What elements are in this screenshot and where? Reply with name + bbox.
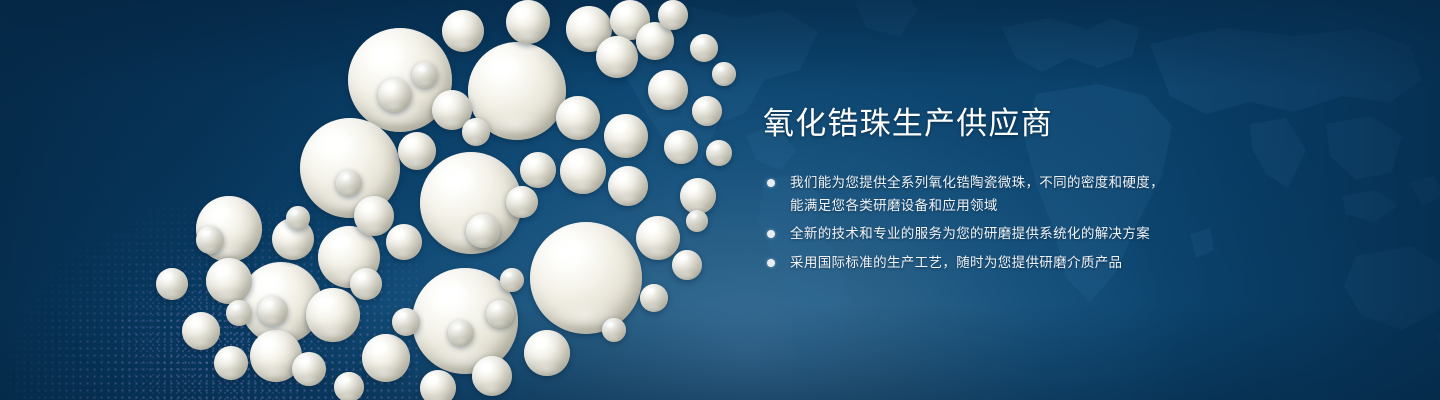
bullet-dot-icon <box>767 179 775 187</box>
bullet-dot-icon <box>767 259 775 267</box>
list-item-line1: 我们能为您提供全系列氧化锆陶瓷微珠，不同的密度和硬度， <box>790 175 1164 191</box>
list-item: 我们能为您提供全系列氧化锆陶瓷微珠，不同的密度和硬度， 能满足您各类研磨设备和应… <box>763 172 1363 217</box>
hero-banner: 氧化锆珠生产供应商 我们能为您提供全系列氧化锆陶瓷微珠，不同的密度和硬度， 能满… <box>0 0 1440 400</box>
list-item-line1: 全新的技术和专业的服务为您的研磨提供系统化的解决方案 <box>790 226 1150 242</box>
page-title: 氧化锆珠生产供应商 <box>763 104 1363 144</box>
bullet-dot-icon <box>767 230 775 238</box>
banner-content: 氧化锆珠生产供应商 我们能为您提供全系列氧化锆陶瓷微珠，不同的密度和硬度， 能满… <box>763 104 1363 274</box>
list-item: 全新的技术和专业的服务为您的研磨提供系统化的解决方案 <box>763 223 1363 246</box>
feature-list: 我们能为您提供全系列氧化锆陶瓷微珠，不同的密度和硬度， 能满足您各类研磨设备和应… <box>763 172 1363 274</box>
list-item-line2: 能满足您各类研磨设备和应用领域 <box>790 195 1363 218</box>
list-item-line1: 采用国际标准的生产工艺，随时为您提供研磨介质产品 <box>790 255 1122 271</box>
list-item: 采用国际标准的生产工艺，随时为您提供研磨介质产品 <box>763 252 1363 275</box>
